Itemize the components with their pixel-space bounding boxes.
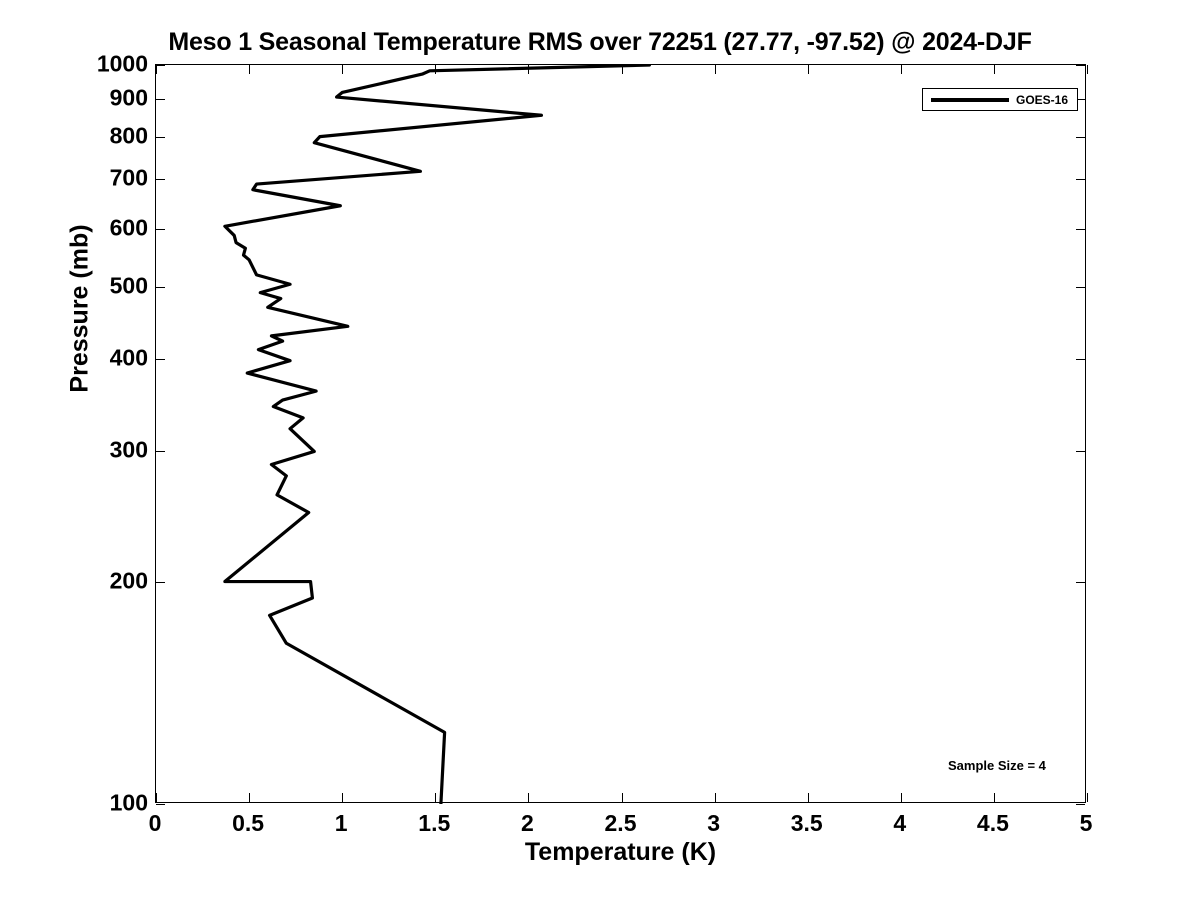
y-tick-label: 1000: [97, 51, 148, 78]
x-tick-mark: [994, 65, 995, 74]
y-tick-label: 900: [110, 84, 148, 111]
x-tick-mark: [249, 65, 250, 74]
y-tick-mark: [156, 287, 165, 288]
y-axis-title: Pressure (mb): [66, 169, 95, 449]
x-tick-label: 3: [707, 810, 720, 837]
x-tick-mark: [528, 65, 529, 74]
y-tick-mark: [1076, 229, 1085, 230]
legend: GOES-16: [922, 88, 1078, 111]
y-tick-mark: [156, 804, 165, 805]
page-title: Meso 1 Seasonal Temperature RMS over 722…: [0, 28, 1200, 57]
legend-line-swatch: [931, 98, 1009, 102]
x-tick-mark: [249, 793, 250, 802]
y-tick-label: 100: [110, 790, 148, 817]
x-tick-label: 0.5: [232, 810, 264, 837]
x-tick-mark: [808, 65, 809, 74]
x-tick-label: 4.5: [977, 810, 1009, 837]
y-tick-label: 300: [110, 437, 148, 464]
x-tick-label: 4: [893, 810, 906, 837]
x-tick-mark: [901, 65, 902, 74]
x-tick-label: 5: [1080, 810, 1093, 837]
y-tick-mark: [1076, 65, 1085, 66]
x-tick-mark: [715, 793, 716, 802]
y-tick-mark: [1076, 179, 1085, 180]
y-tick-mark: [156, 99, 165, 100]
y-tick-label: 400: [110, 345, 148, 372]
y-tick-mark: [1076, 451, 1085, 452]
x-tick-mark: [622, 65, 623, 74]
y-tick-mark: [156, 229, 165, 230]
x-tick-mark: [435, 793, 436, 802]
x-tick-mark: [1087, 793, 1088, 802]
x-axis-title: Temperature (K): [155, 838, 1086, 867]
x-tick-label: 2: [521, 810, 534, 837]
series-line-goes-16: [225, 65, 650, 804]
x-tick-label: 0: [149, 810, 162, 837]
x-tick-mark: [528, 793, 529, 802]
y-tick-mark: [156, 137, 165, 138]
sample-size-annotation: Sample Size = 4: [948, 758, 1046, 773]
y-tick-mark: [156, 179, 165, 180]
y-tick-mark: [156, 582, 165, 583]
legend-label-goes-16: GOES-16: [1016, 93, 1068, 107]
x-tick-mark: [622, 793, 623, 802]
figure-root: Meso 1 Seasonal Temperature RMS over 722…: [0, 0, 1200, 900]
y-tick-mark: [1076, 804, 1085, 805]
x-tick-mark: [156, 65, 157, 74]
y-tick-label: 800: [110, 122, 148, 149]
x-tick-mark: [435, 65, 436, 74]
x-tick-label: 1: [335, 810, 348, 837]
x-tick-mark: [994, 793, 995, 802]
y-tick-mark: [1076, 359, 1085, 360]
x-tick-mark: [342, 793, 343, 802]
x-tick-mark: [808, 793, 809, 802]
x-tick-label: 2.5: [605, 810, 637, 837]
y-tick-mark: [156, 359, 165, 360]
y-tick-label: 700: [110, 165, 148, 192]
y-tick-label: 600: [110, 214, 148, 241]
y-tick-label: 200: [110, 567, 148, 594]
x-tick-label: 1.5: [418, 810, 450, 837]
x-tick-mark: [342, 65, 343, 74]
y-tick-label: 500: [110, 273, 148, 300]
x-tick-mark: [901, 793, 902, 802]
y-tick-mark: [1076, 287, 1085, 288]
x-tick-mark: [1087, 65, 1088, 74]
y-tick-mark: [1076, 137, 1085, 138]
y-tick-mark: [1076, 582, 1085, 583]
data-line-chart: [156, 65, 1087, 804]
x-tick-mark: [156, 793, 157, 802]
y-tick-mark: [156, 65, 165, 66]
y-tick-mark: [156, 451, 165, 452]
x-tick-mark: [715, 65, 716, 74]
plot-axes: [155, 64, 1086, 803]
x-tick-label: 3.5: [791, 810, 823, 837]
